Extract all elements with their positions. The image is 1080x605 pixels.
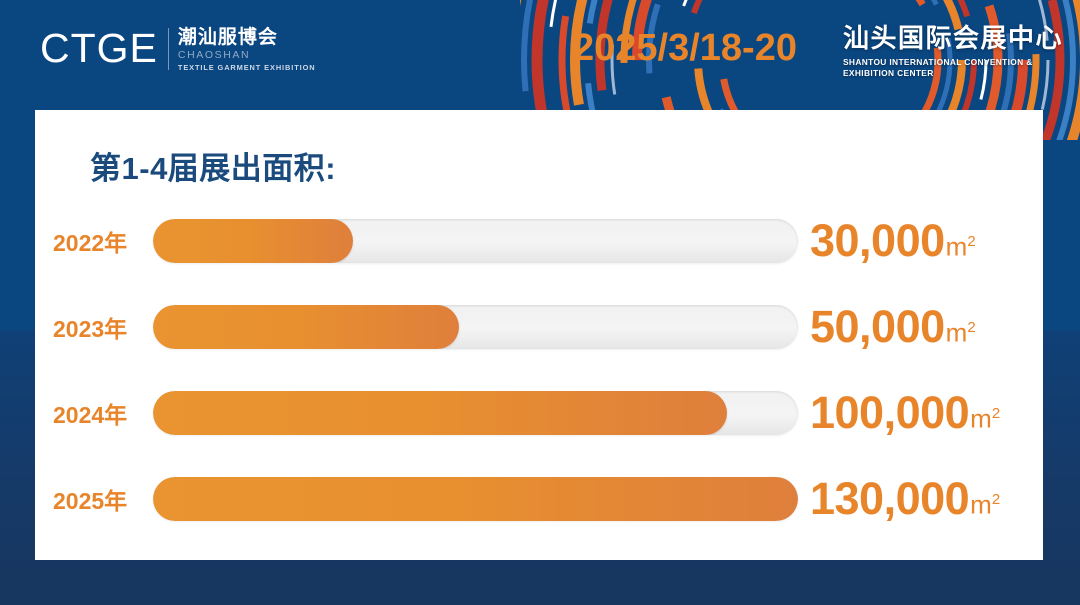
logo-divider — [168, 28, 169, 70]
progress-track — [153, 305, 798, 349]
row-value-unit: m2 — [946, 229, 976, 260]
progress-fill — [153, 477, 798, 521]
row-value-number: 130,000 — [810, 476, 969, 522]
poster-header: CTGE 潮汕服博会 CHAOSHAN TEXTILE GARMENT EXHI… — [0, 0, 1080, 110]
event-date: 2025/3/18-20 — [573, 24, 797, 72]
row-value: 100,000 m2 — [810, 390, 1000, 436]
row-value: 130,000 m2 — [810, 476, 1000, 522]
row-year-label: 2022年 — [53, 224, 153, 258]
row-year-label: 2023年 — [53, 310, 153, 344]
brand-logo: CTGE 潮汕服博会 CHAOSHAN TEXTILE GARMENT EXHI… — [40, 26, 315, 73]
logo-wordmark: CTGE — [40, 26, 158, 70]
venue-name-en: SHANTOU INTERNATIONAL CONVENTION & EXHIB… — [843, 57, 1080, 79]
bar-chart: 2022年 30,000 m2 2023年 50,000 m2 — [35, 198, 1043, 542]
row-value-unit: m2 — [970, 487, 1000, 518]
row-value-unit: m2 — [970, 401, 1000, 432]
stats-card: 第1-4届展出面积: 2022年 30,000 m2 2023年 50,000 — [35, 110, 1043, 560]
chart-row: 2025年 130,000 m2 — [35, 456, 1043, 542]
row-value-unit: m2 — [946, 315, 976, 346]
row-value: 50,000 m2 — [810, 304, 976, 350]
logo-text-block: 潮汕服博会 CHAOSHAN TEXTILE GARMENT EXHIBITIO… — [178, 26, 316, 73]
progress-fill — [153, 219, 353, 263]
progress-track — [153, 219, 798, 263]
progress-track — [153, 391, 798, 435]
row-year-label: 2024年 — [53, 396, 153, 430]
event-date-block: 2025/3/18-20 — [573, 24, 797, 72]
poster-canvas: CTGE 潮汕服博会 CHAOSHAN TEXTILE GARMENT EXHI… — [0, 0, 1080, 605]
logo-chinese-name: 潮汕服博会 — [178, 27, 316, 48]
venue-name-cn: 汕头国际会展中心 — [843, 22, 1080, 54]
row-value: 30,000 m2 — [810, 218, 976, 264]
row-value-number: 30,000 — [810, 218, 945, 264]
logo-pinyin: CHAOSHAN — [178, 49, 316, 61]
row-year-label: 2025年 — [53, 482, 153, 516]
chart-row: 2024年 100,000 m2 — [35, 370, 1043, 456]
progress-fill — [153, 305, 459, 349]
logo-english-name: TEXTILE GARMENT EXHIBITION — [178, 63, 316, 73]
row-value-number: 50,000 — [810, 304, 945, 350]
progress-fill — [153, 391, 727, 435]
progress-track — [153, 477, 798, 521]
chart-row: 2022年 30,000 m2 — [35, 198, 1043, 284]
chart-row: 2023年 50,000 m2 — [35, 284, 1043, 370]
venue-block: 汕头国际会展中心 SHANTOU INTERNATIONAL CONVENTIO… — [843, 22, 1080, 79]
row-value-number: 100,000 — [810, 390, 969, 436]
page-title: 第1-4届展出面积: — [90, 143, 336, 188]
